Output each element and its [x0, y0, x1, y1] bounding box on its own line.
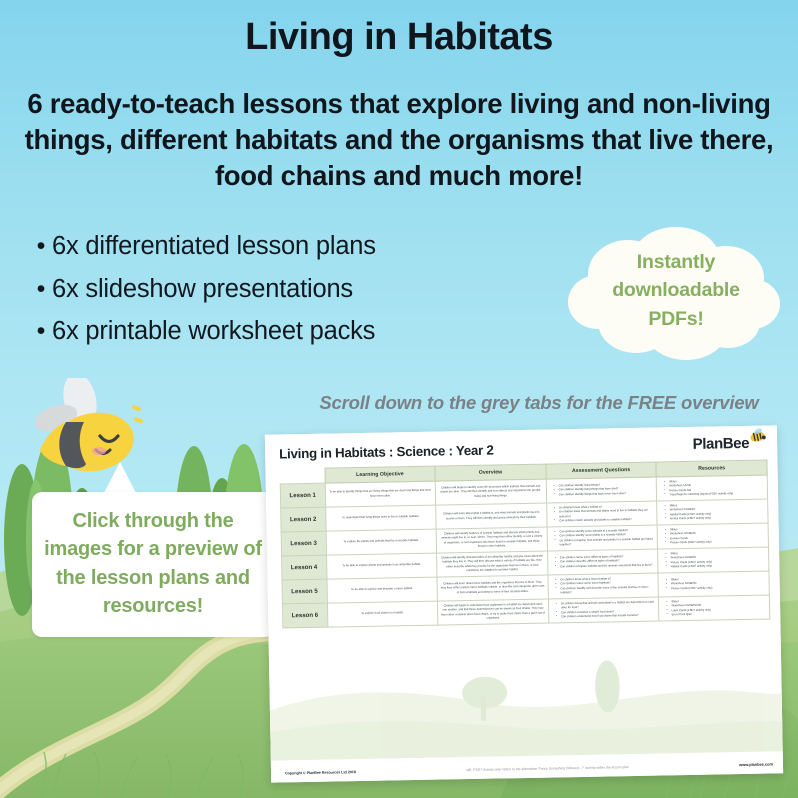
lesson-label: Lesson 6: [282, 603, 327, 628]
lesson-objective: To explore the plants and animals that l…: [326, 529, 437, 555]
list-item-label: 6x printable worksheet packs: [52, 313, 375, 350]
bullet-dot-icon: •: [30, 319, 52, 344]
speech-bubble[interactable]: Click through the images for a preview o…: [32, 492, 274, 637]
table-header-blank: [280, 468, 325, 484]
list-item-label: 6x slideshow presentations: [52, 271, 353, 308]
lesson-resources: Slides Worksheet 3A/3B/3C Domino Cards P…: [657, 523, 768, 549]
lesson-assessment: Can children identify some animals in a …: [547, 525, 658, 551]
page-title: Living in Habitats: [0, 18, 798, 58]
lesson-resources: Slides Worksheet 2A/2B/2C Habitat Cards …: [657, 499, 768, 525]
lesson-objective: To be able to explore plants and animals…: [326, 553, 437, 579]
lesson-resources: Slides Worksheet 4A/4B/4C Picture Cards …: [658, 547, 769, 573]
cloud-badge-line-2: downloadable: [566, 276, 786, 304]
list-item-label: 6x differentiated lesson plans: [52, 228, 376, 265]
resource-item: Animal Cards (FSD? activity only): [666, 515, 765, 521]
cloud-badge-line-3: PDFs!: [566, 305, 786, 333]
lesson-label: Lesson 4: [282, 555, 327, 580]
lesson-label: Lesson 3: [281, 531, 326, 556]
lesson-overview: Children will learn about micro-habitats…: [437, 575, 548, 601]
document-footer: Copyright © PlanBee Resources Ltd 2018 N…: [285, 761, 773, 775]
planbee-logo-text: PlanBee: [693, 435, 750, 453]
lesson-overview: Children will begin to identify some lif…: [435, 479, 546, 505]
lesson-objective: To explore food chains in a habitat.: [327, 601, 438, 627]
footer-note: NB: 'FSD? Activity only' refers to the a…: [466, 765, 629, 772]
lesson-assessment: Do children know what a micro-habitat is…: [548, 573, 659, 599]
assessment-item: Can children understand how food chains …: [557, 613, 656, 619]
lesson-assessment: Do children know what a habitat is? Do c…: [546, 501, 657, 527]
lesson-objective: To be able to explore and describe a mic…: [327, 577, 438, 603]
assessment-item: Can children identify things that have n…: [555, 491, 654, 497]
promo-graphic: Living in Habitats 6 ready-to-teach less…: [0, 0, 798, 798]
resource-item: Trays/bags for collecting objects (FSD? …: [665, 491, 764, 497]
lesson-label: Lesson 2: [281, 507, 326, 532]
footer-website: www.planbee.com: [739, 761, 773, 767]
bee-sparkles: [132, 405, 144, 424]
lesson-objective: To understand that living things need to…: [325, 505, 436, 531]
lesson-overview-document[interactable]: Living in Habitats : Science : Year 2 Pl…: [265, 425, 783, 782]
lesson-objective: To be able to identify things that are l…: [325, 481, 436, 507]
resource-item: Picture Cards (FSD? activity only): [666, 539, 765, 545]
footer-copyright: Copyright © PlanBee Resources Ltd 2018: [285, 770, 356, 775]
list-item: • 6x differentiated lesson plans: [30, 228, 530, 265]
lesson-overview: Children will begin to understand how or…: [438, 599, 549, 625]
assessment-item: Do children recognise how animals and pl…: [556, 537, 655, 547]
lesson-assessment: Do children know that animals and plants…: [548, 597, 659, 623]
planbee-logo: PlanBee: [693, 435, 768, 453]
cloud-badge-text: Instantly downloadable PDFs!: [566, 248, 786, 333]
lesson-resources: Slides Worksheet 6A/6B/6C/6D Label Cards…: [659, 595, 770, 621]
speech-bubble-tail: [103, 462, 137, 495]
lesson-assessment: Can children name some different types o…: [547, 549, 658, 575]
document-watermark: [269, 631, 783, 760]
list-item: • 6x printable worksheet packs: [30, 313, 530, 350]
assessment-item: Can children compare habitats and the an…: [556, 563, 655, 569]
resource-item: Habitat Cards (FSD? activity only): [667, 563, 766, 569]
document-header: Living in Habitats : Science : Year 2 Pl…: [279, 438, 767, 462]
lesson-overview: Children will learn about what a habitat…: [436, 503, 547, 529]
cloud-badge-line-1: Instantly: [566, 248, 786, 276]
lesson-assessment: Can children identify living things? Can…: [546, 477, 657, 503]
feature-list: • 6x differentiated lesson plans • 6x sl…: [30, 228, 530, 356]
speech-bubble-text: Click through the images for a preview o…: [42, 507, 264, 621]
assessment-item: Can children match animals and plants to…: [555, 517, 654, 523]
lesson-resources: Slides Worksheet 5A/5B/5C Picture Cards …: [658, 571, 769, 597]
page-subtitle: 6 ready-to-teach lessons that explore li…: [22, 86, 776, 193]
lesson-overview-table: Learning Objective Overview Assessment Q…: [279, 460, 770, 629]
resource-item: End of Unit Quiz: [668, 611, 767, 617]
lesson-label: Lesson 5: [282, 579, 327, 604]
resource-item: Picture Cards (FSD? activity only): [667, 585, 766, 591]
list-item: • 6x slideshow presentations: [30, 271, 530, 308]
bullet-dot-icon: •: [30, 277, 52, 302]
lesson-overview: Children will identify characteristics o…: [437, 551, 548, 577]
lesson-label: Lesson 1: [280, 483, 325, 508]
cloud-badge: Instantly downloadable PDFs!: [566, 222, 786, 367]
document-title: Living in Habitats : Science : Year 2: [279, 443, 494, 462]
bullet-dot-icon: •: [30, 234, 52, 259]
logo-bee-icon: [748, 428, 767, 443]
assessment-item: Can children identify and describe some …: [556, 585, 655, 595]
lesson-resources: Slides Worksheet 1A/1B Picture Cards A/B…: [657, 475, 768, 501]
scroll-hint-text: Scroll down to the grey tabs for the FRE…: [292, 392, 786, 414]
lesson-overview: Children will identify features of seasi…: [436, 527, 547, 553]
